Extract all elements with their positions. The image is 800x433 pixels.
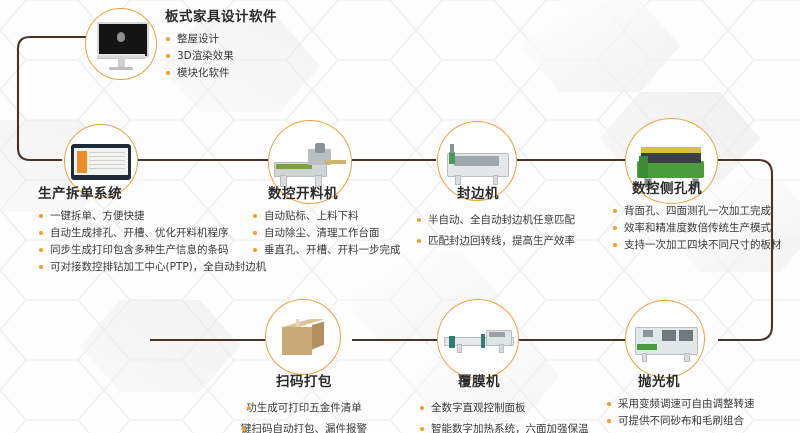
- block-scan-code-packing: 扫码打包 功生成可打印五金件清单 键扫码自动打包、漏件报警: [233, 374, 375, 433]
- node-title: 数控开料机: [252, 186, 401, 202]
- list-item: 采用变频调速可自由调整转速: [606, 396, 755, 413]
- block-design-software: 板式家具设计软件 整屋设计 3D渲染效果 模块化软件: [165, 9, 277, 82]
- list-item: 支持一次加工四块不同尺寸的板材: [612, 237, 782, 254]
- list-item: 功生成可打印五金件清单: [246, 400, 362, 417]
- polishing-machine-icon: [626, 301, 704, 377]
- node-icon-polishing-machine[interactable]: [625, 300, 705, 378]
- block-cnc-cutting-machine: 数控开料机 自动贴标、上料下料 自动除尘、清理工作台面 垂直孔、开槽、开料一步完…: [252, 186, 401, 259]
- list-item: 垂直孔、开槽、开料一步完成: [252, 242, 401, 259]
- list-item: 同步生成打印包含多种生产信息的条码: [38, 242, 266, 259]
- list-item: 自动生成排孔、开槽、优化开料机程序: [38, 225, 266, 242]
- block-cnc-side-hole-machine: 数控侧孔机 背面孔、四面测孔一次加工完成 效率和精准度数倍传统生产模式 支持一次…: [612, 181, 782, 254]
- feature-list: 采用变频调速可自由调整转速 可提供不同砂布和毛刷组合: [606, 396, 755, 430]
- block-polishing-machine: 抛光机 采用变频调速可自由调整转速 可提供不同砂布和毛刷组合: [606, 374, 755, 430]
- feature-list: 全数字直观控制面板 智能数字加热系统，六面加强保温: [405, 396, 553, 433]
- list-item: 键扫码自动打包、漏件报警: [241, 421, 367, 433]
- desktop-computer-imac-icon: [86, 9, 156, 79]
- block-edge-banding-machine: 封边机 半自动、全自动封边机任意匹配 匹配封边回转线，提高生产效率: [408, 186, 548, 250]
- node-icon-laminating-machine[interactable]: [437, 299, 519, 379]
- infographic-canvas: 板式家具设计软件 整屋设计 3D渲染效果 模块化软件 生产拆单系统 一键拆单、方…: [0, 0, 800, 433]
- list-item: 全数字直观控制面板: [419, 400, 526, 417]
- list-item: 自动除尘、清理工作台面: [252, 225, 401, 242]
- list-item: 自动贴标、上料下料: [252, 208, 401, 225]
- node-title: 封边机: [408, 186, 548, 202]
- feature-list: 功生成可打印五金件清单 键扫码自动打包、漏件报警: [233, 396, 375, 433]
- node-title: 扫码打包: [233, 374, 375, 390]
- list-item: 效率和精准度数倍传统生产模式: [612, 220, 782, 237]
- list-item: 模块化软件: [165, 65, 277, 82]
- feature-list: 自动贴标、上料下料 自动除尘、清理工作台面 垂直孔、开槽、开料一步完成: [252, 208, 401, 259]
- node-title: 生产拆单系统: [38, 186, 266, 202]
- list-item: 可提供不同砂布和毛刷组合: [606, 413, 755, 430]
- node-icon-design-software[interactable]: [85, 8, 157, 80]
- feature-list: 一键拆单、方便快捷 自动生成排孔、开槽、优化开料机程序 同步生成打印包含多种生产…: [38, 208, 266, 276]
- list-item: 智能数字加热系统，六面加强保温: [419, 421, 589, 433]
- list-item: 匹配封边回转线，提高生产效率: [416, 233, 575, 250]
- feature-list: 整屋设计 3D渲染效果 模块化软件: [165, 31, 277, 82]
- feature-list: 半自动、全自动封边机任意匹配 匹配封边回转线，提高生产效率: [408, 208, 548, 250]
- laminating-machine-icon: [438, 300, 518, 378]
- node-icon-scan-code-packing[interactable]: [265, 299, 341, 375]
- list-item: 3D渲染效果: [165, 48, 277, 65]
- block-laminating-machine: 覆膜机 全数字直观控制面板 智能数字加热系统，六面加强保温: [405, 374, 553, 433]
- node-title: 覆膜机: [405, 374, 553, 390]
- list-item: 背面孔、四面测孔一次加工完成: [612, 203, 782, 220]
- cardboard-box-icon: [266, 300, 340, 374]
- node-title: 抛光机: [606, 374, 755, 390]
- list-item: 半自动、全自动封边机任意匹配: [416, 212, 575, 229]
- list-item: 整屋设计: [165, 31, 277, 48]
- feature-list: 背面孔、四面测孔一次加工完成 效率和精准度数倍传统生产模式 支持一次加工四块不同…: [612, 203, 782, 254]
- node-title: 数控侧孔机: [612, 181, 782, 197]
- node-title: 板式家具设计软件: [165, 9, 277, 25]
- list-item: 一键拆单、方便快捷: [38, 208, 266, 225]
- list-item: 可对接数控排钻加工中心(PTP)，全自动封边机: [38, 259, 266, 276]
- block-production-order-system: 生产拆单系统 一键拆单、方便快捷 自动生成排孔、开槽、优化开料机程序 同步生成打…: [38, 186, 266, 276]
